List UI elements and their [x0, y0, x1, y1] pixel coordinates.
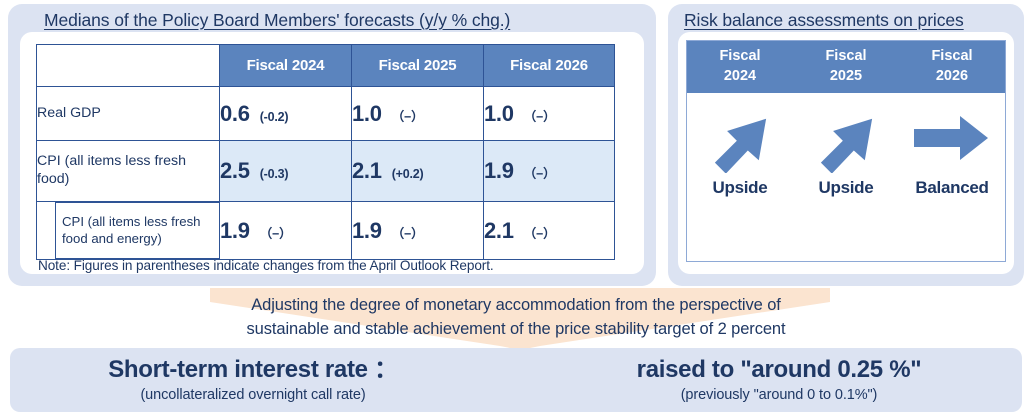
change: (+0.2) — [392, 167, 424, 181]
value: 1.0 — [352, 101, 382, 126]
value: 1.9 — [484, 158, 514, 183]
change: （−） — [392, 227, 424, 241]
risk-column-fiscal-2025: Upside — [793, 100, 899, 240]
risk-assessment-2026: Balanced — [915, 178, 988, 198]
change: (-0.3) — [260, 167, 289, 181]
risk-header-row: Fiscal 2024 Fiscal 2025 Fiscal 2026 — [687, 41, 1005, 93]
column-header-fiscal-2025: Fiscal 2025 — [352, 45, 484, 87]
risk-header-fiscal-2026: Fiscal 2026 — [899, 41, 1005, 93]
value: 1.0 — [484, 101, 514, 126]
row-label-cpi-less-food-energy-wrap: CPI (all items less fresh food and energ… — [37, 202, 220, 260]
arrow-right-icon — [912, 100, 992, 178]
risk-header-line1: Fiscal — [793, 47, 899, 67]
row-label-real-gdp: Real GDP — [37, 87, 220, 141]
risk-header-fiscal-2025: Fiscal 2025 — [793, 41, 899, 93]
risk-header-fiscal-2024: Fiscal 2024 — [687, 41, 793, 93]
cell-cpi-core-2024: 1.9（−） — [220, 202, 352, 260]
forecast-table: Fiscal 2024 Fiscal 2025 Fiscal 2026 Real… — [36, 44, 615, 260]
risk-header-line2: 2025 — [793, 67, 899, 87]
new-rate-value: raised to "around 0.25 %" — [637, 357, 922, 383]
previous-rate-value: (previously "around 0 to 0.1%") — [681, 387, 878, 403]
rate-banner-right: raised to "around 0.25 %" (previously "a… — [536, 348, 1022, 412]
risk-header-line2: 2026 — [899, 67, 1005, 87]
value: 2.1 — [484, 218, 514, 243]
cell-cpi-core-2026: 2.1（−） — [484, 202, 615, 260]
table-corner-cell — [37, 45, 220, 87]
risk-assessment-2024: Upside — [713, 178, 768, 198]
risk-assessment-2025: Upside — [819, 178, 874, 198]
policy-statement-line-2: sustainable and stable achievement of th… — [0, 318, 1032, 342]
change: (-0.2) — [260, 110, 289, 124]
table-row: CPI (all items less fresh food) 2.5(-0.3… — [37, 141, 615, 202]
cell-cpi-2026: 1.9（−） — [484, 141, 615, 202]
cell-cpi-2025: 2.1(+0.2) — [352, 141, 484, 202]
risk-column-fiscal-2024: Upside — [687, 100, 793, 240]
right-panel-title: Risk balance assessments on prices — [684, 10, 964, 31]
column-header-fiscal-2024: Fiscal 2024 — [220, 45, 352, 87]
change: （−） — [524, 110, 556, 124]
table-row: CPI (all items less fresh food and energ… — [37, 202, 615, 260]
value: 0.6 — [220, 101, 250, 126]
cell-real-gdp-2024: 0.6(-0.2) — [220, 87, 352, 141]
row-label-cpi-less-food-energy: CPI (all items less fresh food and energ… — [55, 202, 219, 259]
value: 2.1 — [352, 158, 382, 183]
arrow-up-right-icon — [810, 100, 882, 178]
change: （−） — [524, 167, 556, 181]
value: 1.9 — [352, 218, 382, 243]
short-term-rate-label: Short-term interest rate ： — [108, 357, 398, 383]
cell-real-gdp-2025: 1.0（−） — [352, 87, 484, 141]
cell-cpi-core-2025: 1.9（−） — [352, 202, 484, 260]
value: 1.9 — [220, 218, 250, 243]
table-header-row: Fiscal 2024 Fiscal 2025 Fiscal 2026 — [37, 45, 615, 87]
risk-body-row: Upside Upside Balanced — [687, 100, 1005, 240]
cell-real-gdp-2026: 1.0（−） — [484, 87, 615, 141]
change: （−） — [524, 227, 556, 241]
rate-banner-content: Short-term interest rate ： (uncollateral… — [10, 348, 1022, 412]
risk-column-fiscal-2026: Balanced — [899, 100, 1005, 240]
table-row: Real GDP 0.6(-0.2) 1.0（−） 1.0（−） — [37, 87, 615, 141]
risk-header-line1: Fiscal — [687, 47, 793, 67]
risk-header-line2: 2024 — [687, 67, 793, 87]
row-label-cpi-less-fresh-food: CPI (all items less fresh food) — [37, 141, 220, 202]
policy-statement-text: Adjusting the degree of monetary accommo… — [0, 294, 1032, 342]
cell-cpi-2024: 2.5(-0.3) — [220, 141, 352, 202]
value: 2.5 — [220, 158, 250, 183]
arrow-up-right-icon — [704, 100, 776, 178]
change: （−） — [392, 110, 424, 124]
policy-statement-line-1: Adjusting the degree of monetary accommo… — [0, 294, 1032, 318]
slide-canvas: Medians of the Policy Board Members' for… — [0, 0, 1032, 416]
left-panel-title: Medians of the Policy Board Members' for… — [44, 10, 510, 31]
table-note: Note: Figures in parentheses indicate ch… — [38, 258, 494, 273]
short-term-rate-sublabel: (uncollateralized overnight call rate) — [140, 387, 365, 403]
rate-banner-left: Short-term interest rate ： (uncollateral… — [10, 348, 536, 412]
risk-header-line1: Fiscal — [899, 47, 1005, 67]
change: （−） — [260, 227, 292, 241]
column-header-fiscal-2026: Fiscal 2026 — [484, 45, 615, 87]
